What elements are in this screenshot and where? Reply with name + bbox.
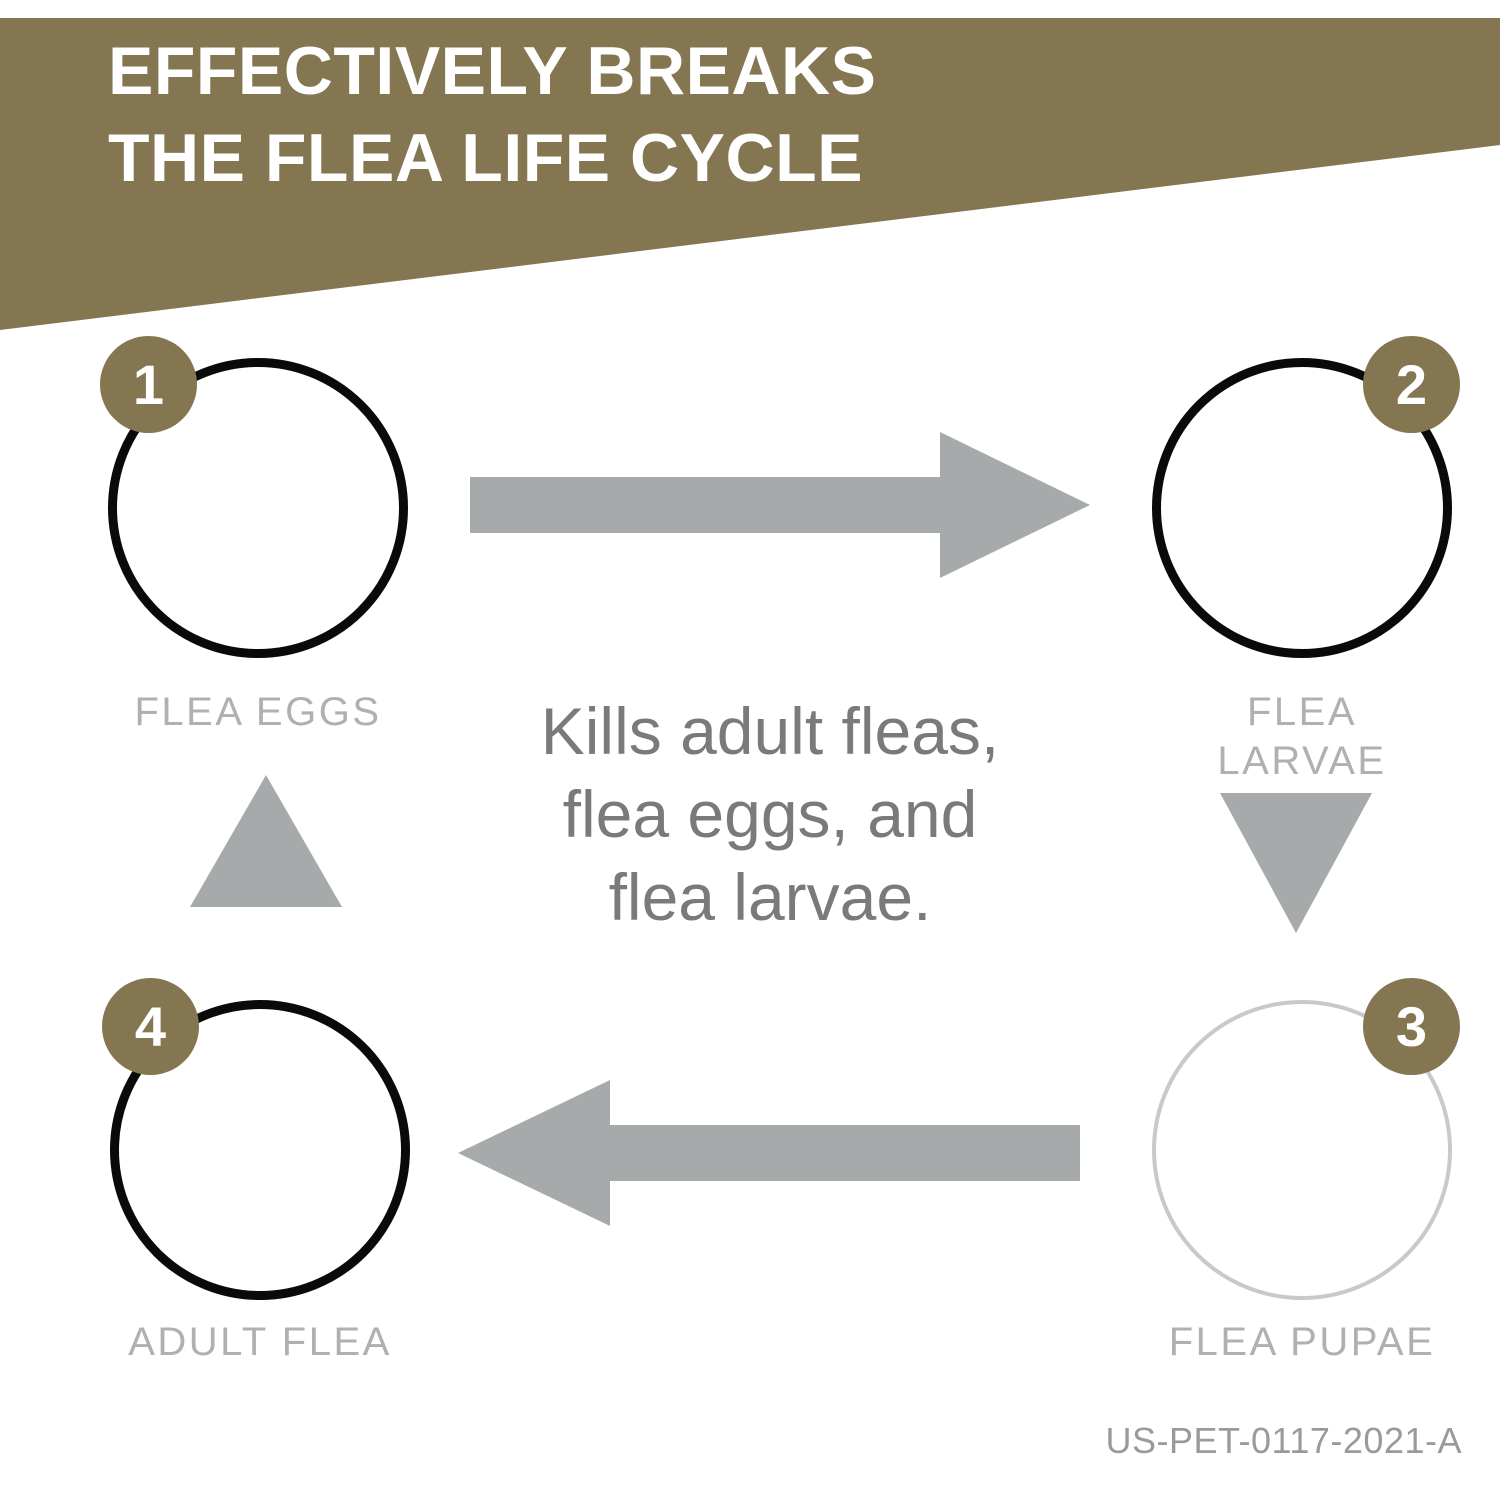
page-title-line-2: THE FLEA LIFE CYCLE bbox=[108, 115, 1208, 202]
center-message-line-3: flea larvae. bbox=[420, 856, 1120, 939]
arrow-eggs-to-larvae bbox=[470, 430, 1090, 580]
stage-2-label-line-1: FLEA bbox=[1247, 690, 1357, 734]
stage-2-badge: 2 bbox=[1363, 336, 1460, 433]
arrow-pupae-to-adult bbox=[458, 1078, 1080, 1228]
stage-1-label: FLEA EGGS bbox=[48, 688, 468, 737]
arrow-adult-to-eggs bbox=[190, 775, 342, 907]
page-title-line-1: EFFECTIVELY BREAKS bbox=[108, 28, 1208, 115]
stage-2-flea-larvae[interactable]: 2 bbox=[1152, 358, 1452, 658]
page-title: EFFECTIVELY BREAKS THE FLEA LIFE CYCLE bbox=[108, 28, 1208, 202]
stage-1-badge: 1 bbox=[100, 336, 197, 433]
flea-life-cycle-infographic: EFFECTIVELY BREAKS THE FLEA LIFE CYCLE bbox=[0, 0, 1500, 1500]
arrow-larvae-to-pupae bbox=[1220, 793, 1372, 933]
stage-3-badge: 3 bbox=[1363, 978, 1460, 1075]
center-message: Kills adult fleas, flea eggs, and flea l… bbox=[420, 690, 1120, 939]
stage-4-adult-flea[interactable]: 4 bbox=[110, 1000, 410, 1300]
footer-reference-code: US-PET-0117-2021-A bbox=[1105, 1420, 1462, 1462]
stage-1-flea-eggs[interactable]: 1 bbox=[108, 358, 408, 658]
stage-2-label-line-2: LARVAE bbox=[1217, 739, 1386, 783]
stage-4-badge: 4 bbox=[102, 978, 199, 1075]
stage-4-label: ADULT FLEA bbox=[50, 1318, 470, 1367]
stage-3-flea-pupae[interactable]: 3 bbox=[1152, 1000, 1452, 1300]
center-message-line-1: Kills adult fleas, bbox=[420, 690, 1120, 773]
stage-2-label: FLEA LARVAE bbox=[1092, 688, 1500, 786]
stage-3-label: FLEA PUPAE bbox=[1092, 1318, 1500, 1367]
center-message-line-2: flea eggs, and bbox=[420, 773, 1120, 856]
